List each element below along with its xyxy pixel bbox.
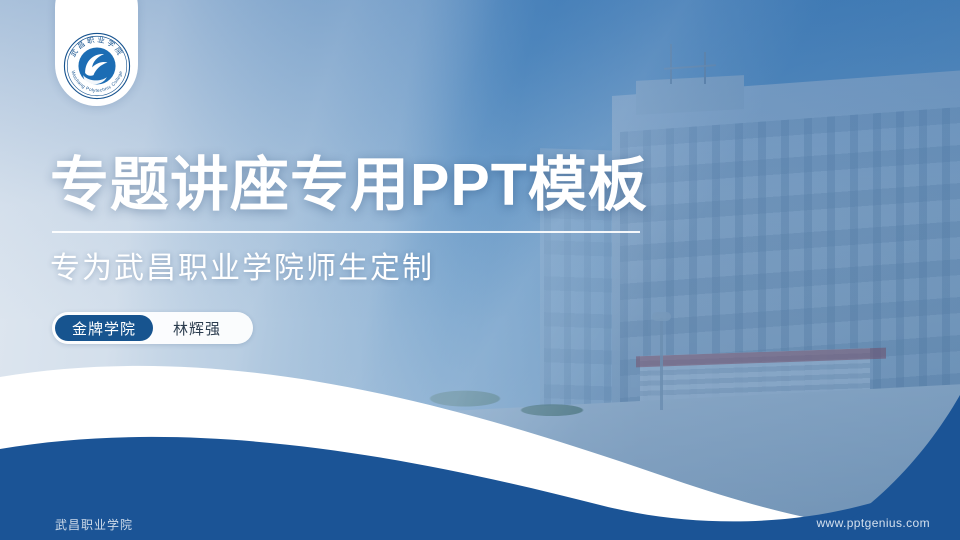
- presentation-title-slide: 武昌职业学院 Wuchang Polytechnic College 专题讲座专…: [0, 0, 960, 540]
- presenter-badge: 金牌学院 林辉强: [52, 312, 253, 344]
- university-seal-icon: 武昌职业学院 Wuchang Polytechnic College: [62, 31, 132, 101]
- presenter-name: 林辉强: [153, 318, 235, 339]
- badge-tag-label: 金牌学院: [55, 315, 153, 341]
- title-divider: [52, 231, 640, 233]
- university-logo: 武昌职业学院 Wuchang Polytechnic College: [62, 31, 132, 101]
- page-title: 专题讲座专用PPT模板: [50, 155, 648, 217]
- wave-decoration: [0, 355, 960, 540]
- footer-university-name: 武昌职业学院: [55, 516, 133, 533]
- page-subtitle: 专为武昌职业学院师生定制: [50, 243, 434, 287]
- footer-website[interactable]: www.pptgenius.com: [816, 516, 930, 530]
